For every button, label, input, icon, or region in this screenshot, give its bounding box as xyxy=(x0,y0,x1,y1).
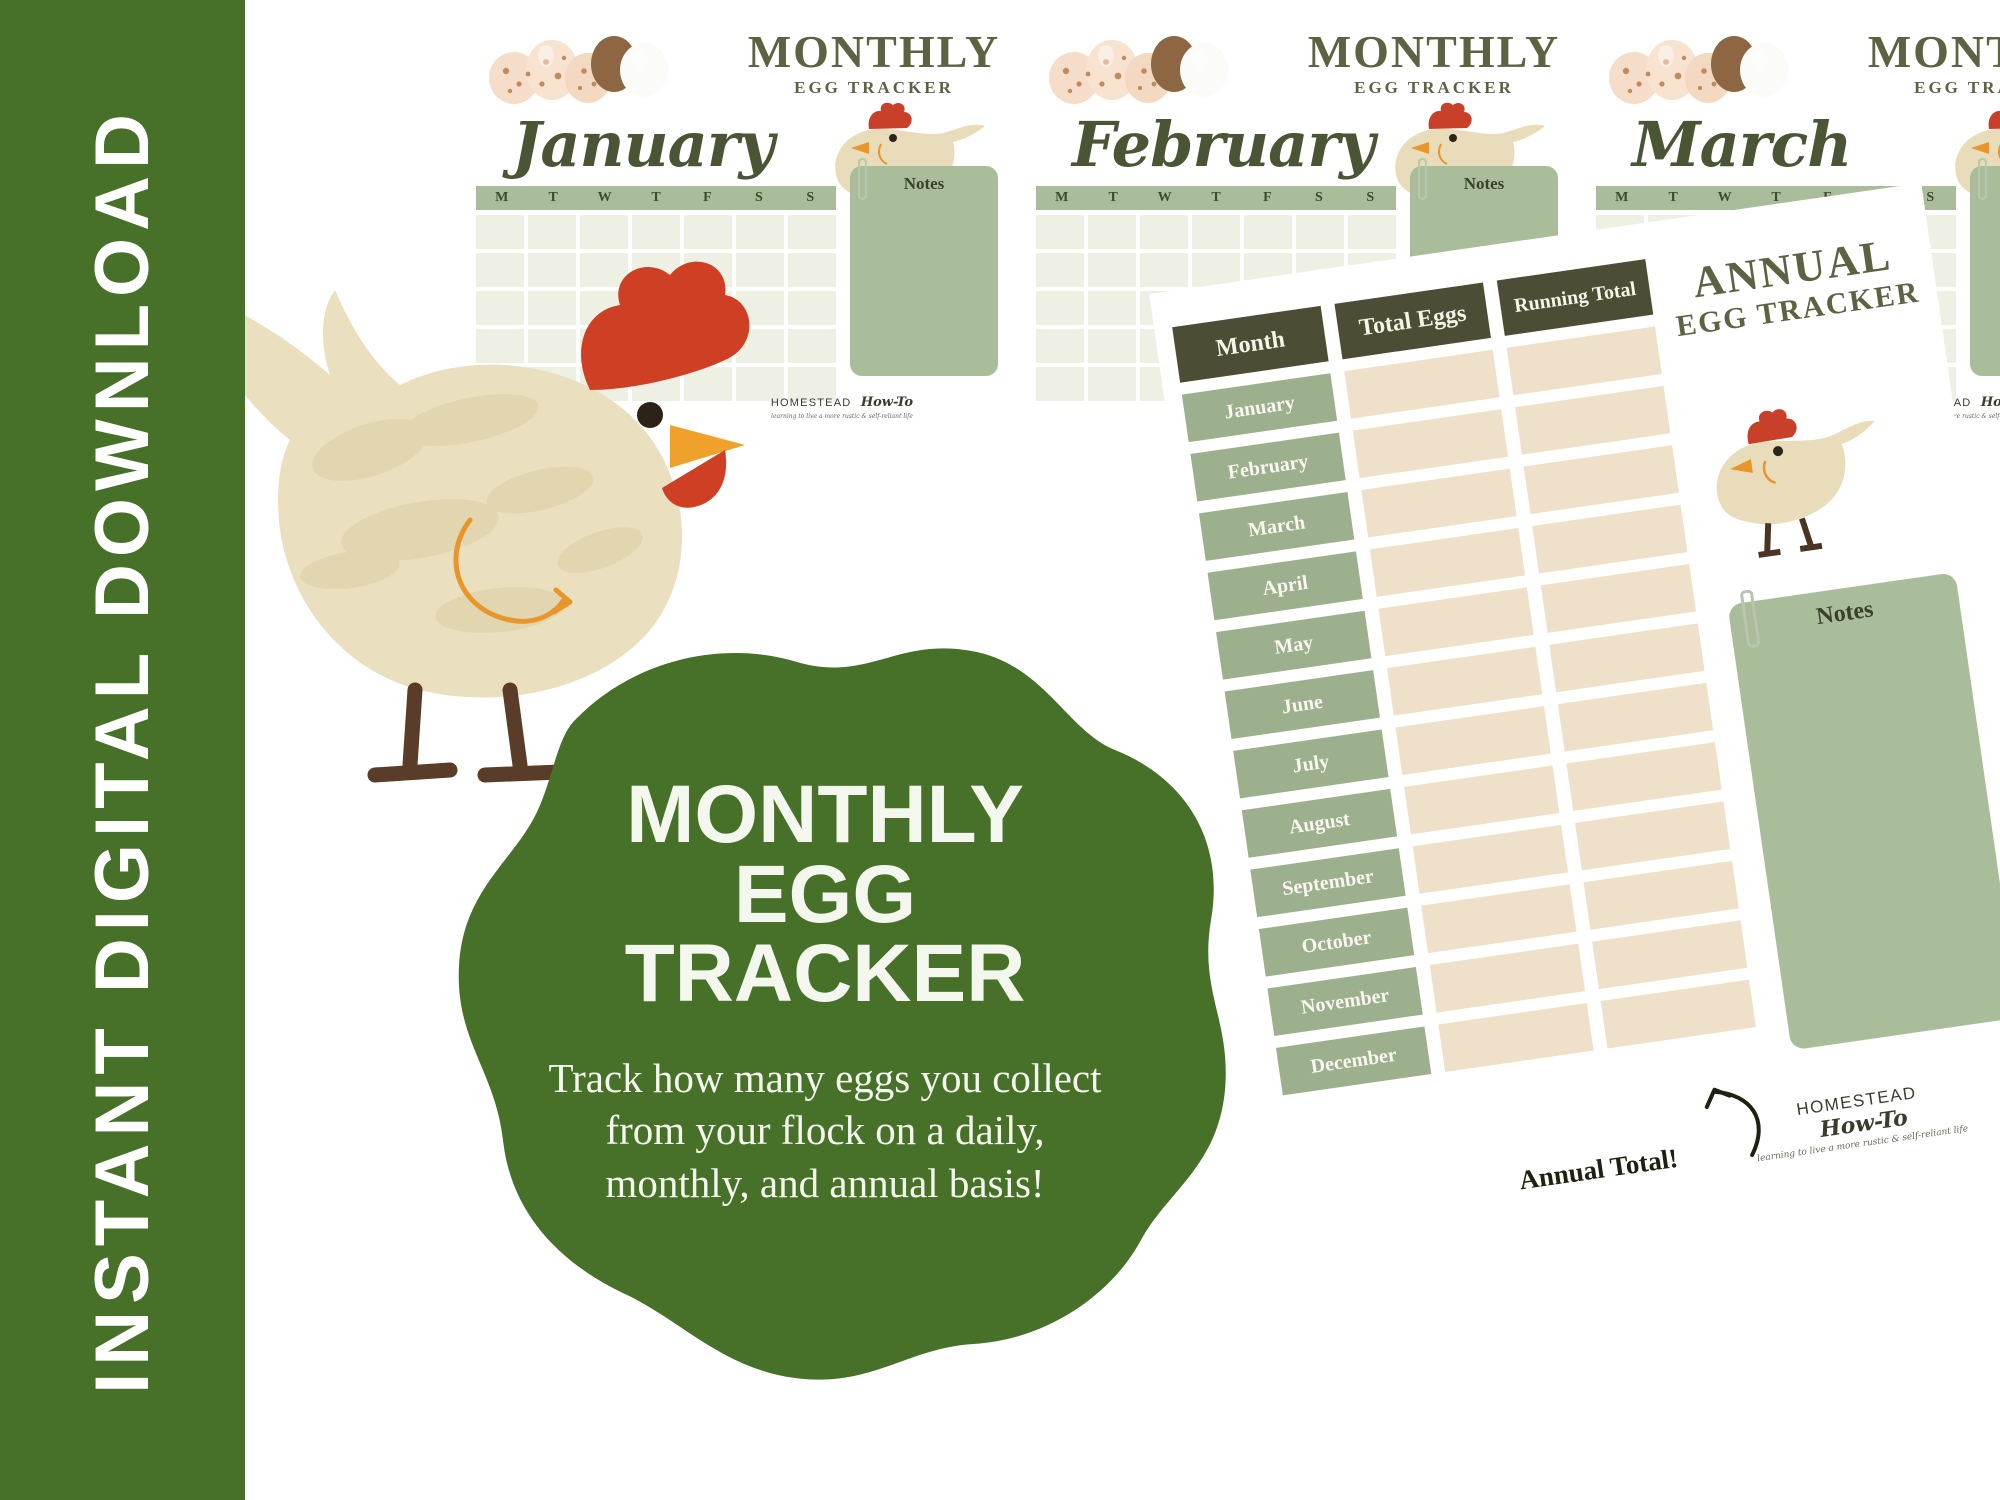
running-total-cell[interactable] xyxy=(1601,980,1756,1049)
sheet-header: MONTHLY EGG TRACKER xyxy=(1854,30,2000,98)
running-total-cell[interactable] xyxy=(1558,683,1713,752)
month-name: March xyxy=(1632,108,1851,181)
sheet-header-sub: EGG TRACKER xyxy=(734,78,1014,98)
total-eggs-cell[interactable] xyxy=(1361,469,1516,538)
eggs-illustration xyxy=(484,26,684,106)
total-eggs-cell[interactable] xyxy=(1353,409,1508,478)
running-total-cell[interactable] xyxy=(1575,801,1730,870)
total-eggs-cell[interactable] xyxy=(1396,706,1551,775)
hero-title-line-3: TRACKER xyxy=(545,934,1105,1014)
calendar-cell[interactable] xyxy=(1088,291,1136,325)
calendar-cell[interactable] xyxy=(1296,215,1344,249)
row-month-label: May xyxy=(1216,611,1371,680)
calendar-cell[interactable] xyxy=(1244,215,1292,249)
sheet-header-main: MONTHLY xyxy=(1294,30,1574,74)
row-month-label: October xyxy=(1259,908,1414,977)
notes-label: Notes xyxy=(1410,166,1558,194)
row-month-label: December xyxy=(1276,1026,1431,1095)
paperclip-icon xyxy=(858,158,867,200)
hero-description: Track how many eggs you collect from you… xyxy=(545,1052,1105,1209)
running-total-cell[interactable] xyxy=(1524,445,1679,514)
total-eggs-cell[interactable] xyxy=(1344,350,1499,419)
brand-name-script: How-To xyxy=(861,395,913,410)
row-month-label: February xyxy=(1190,433,1345,502)
row-month-label: November xyxy=(1267,967,1422,1036)
notes-label: Notes xyxy=(1727,572,1960,643)
day-header: T xyxy=(1087,186,1138,210)
total-eggs-cell[interactable] xyxy=(1413,825,1568,894)
notes-box[interactable]: Notes xyxy=(1970,166,2000,376)
calendar-cell[interactable] xyxy=(1088,253,1136,287)
eggs-illustration xyxy=(1604,26,1804,106)
running-total-cell[interactable] xyxy=(1532,505,1687,574)
row-month-label: June xyxy=(1225,670,1380,739)
calendar-cell[interactable] xyxy=(1036,367,1084,401)
day-header: W xyxy=(1139,186,1190,210)
calendar-cell[interactable] xyxy=(1140,215,1188,249)
calendar-cell[interactable] xyxy=(1192,215,1240,249)
calendar-cell[interactable] xyxy=(1140,253,1188,287)
calendar-cell[interactable] xyxy=(1088,215,1136,249)
row-month-label: January xyxy=(1182,373,1337,442)
calendar-cell[interactable] xyxy=(1036,291,1084,325)
total-eggs-cell[interactable] xyxy=(1430,944,1585,1013)
running-total-cell[interactable] xyxy=(1566,742,1721,811)
running-total-cell[interactable] xyxy=(1515,386,1670,455)
sheet-header-sub: EGG TRACKER xyxy=(1294,78,1574,98)
sheet-header-main: MONTHLY xyxy=(734,30,1014,74)
sheet-header: MONTHLY EGG TRACKER xyxy=(734,30,1014,98)
total-eggs-cell[interactable] xyxy=(1387,647,1542,716)
annual-tracker-sheet: ANNUAL EGG TRACKER Month Total Eggs Runn… xyxy=(1149,183,2000,1244)
hero-title-line-2: EGG xyxy=(545,855,1105,935)
row-month-label: July xyxy=(1233,730,1388,799)
running-total-cell[interactable] xyxy=(1549,623,1704,692)
column-header-running-total: Running Total xyxy=(1497,259,1653,336)
day-header: F xyxy=(1242,186,1293,210)
day-header: S xyxy=(1293,186,1344,210)
day-header: W xyxy=(1699,186,1750,210)
row-month-label: March xyxy=(1199,492,1354,561)
day-header: M xyxy=(1596,186,1647,210)
calendar-cell[interactable] xyxy=(1088,329,1136,363)
day-header: T xyxy=(1190,186,1241,210)
hero-title-line-1: MONTHLY xyxy=(545,775,1105,855)
calendar-cell[interactable] xyxy=(1036,215,1084,249)
brand-name-script: How-To xyxy=(1981,395,2000,410)
total-eggs-cell[interactable] xyxy=(1378,587,1533,656)
sheet-header: MONTHLY EGG TRACKER xyxy=(1294,30,1574,98)
instant-download-banner: INSTANT DIGITAL DOWNLOAD xyxy=(0,0,245,1500)
running-total-cell[interactable] xyxy=(1507,326,1662,395)
total-eggs-cell[interactable] xyxy=(1421,884,1576,953)
total-eggs-cell[interactable] xyxy=(1370,528,1525,597)
month-name: February xyxy=(1072,108,1374,181)
total-eggs-cell[interactable] xyxy=(1404,766,1559,835)
day-header: T xyxy=(1647,186,1698,210)
row-month-label: August xyxy=(1242,789,1397,858)
sheet-header-sub: EGG TRACKER xyxy=(1854,78,2000,98)
running-total-cell[interactable] xyxy=(1592,920,1747,989)
row-month-label: April xyxy=(1208,551,1363,620)
paperclip-icon xyxy=(1978,158,1987,200)
annual-total-label: Annual Total! xyxy=(1517,1143,1680,1196)
running-total-cell[interactable] xyxy=(1584,861,1739,930)
calendar-cell[interactable] xyxy=(1036,253,1084,287)
sheet-header-main: MONTHLY xyxy=(1854,30,2000,74)
brand-logo: HOMESTEAD How-To learning to live a more… xyxy=(1746,1076,1972,1165)
running-total-cell[interactable] xyxy=(1541,564,1696,633)
hero-content: MONTHLY EGG TRACKER Track how many eggs … xyxy=(545,775,1105,1209)
hen-illustration-annual xyxy=(1672,386,1904,584)
hero-title: MONTHLY EGG TRACKER xyxy=(545,775,1105,1014)
paperclip-icon xyxy=(1418,158,1427,200)
total-eggs-cell[interactable] xyxy=(1438,1003,1593,1072)
column-header-month: Month xyxy=(1172,306,1328,383)
eggs-illustration xyxy=(1044,26,1244,106)
annual-title: ANNUAL EGG TRACKER xyxy=(1665,230,1924,345)
day-header: M xyxy=(1036,186,1087,210)
banner-label: INSTANT DIGITAL DOWNLOAD xyxy=(79,107,166,1394)
column-header-total-eggs: Total Eggs xyxy=(1334,282,1490,359)
row-month-label: September xyxy=(1250,848,1405,917)
calendar-cell[interactable] xyxy=(1088,367,1136,401)
notes-label: Notes xyxy=(850,166,998,194)
calendar-cell[interactable] xyxy=(1036,329,1084,363)
notes-box[interactable]: Notes xyxy=(850,166,998,376)
calendar-day-headers: M T W T F S S xyxy=(1036,186,1396,210)
annual-notes-box[interactable]: Notes xyxy=(1727,572,2000,1050)
annual-table: Month Total Eggs Running Total January F… xyxy=(1172,259,1758,1096)
